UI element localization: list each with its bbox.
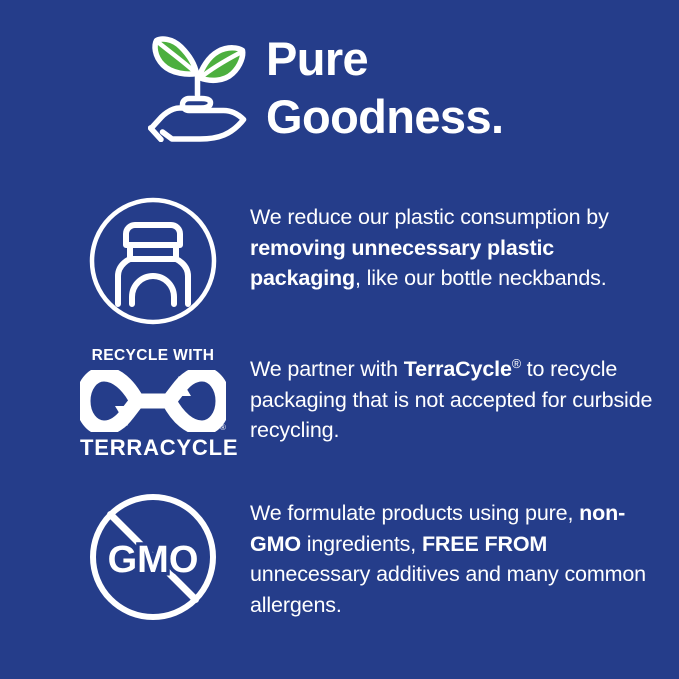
terracycle-registered-mark: ® [220,423,226,432]
hand-holding-sprout-icon [148,32,252,142]
icon-cell-gmo: GMO [56,492,250,622]
header: Pure Goodness. [148,28,503,147]
benefit-text-terracycle-part-1: TerraCycle [404,357,512,381]
benefit-row-plastic: We reduce our plastic consumption by rem… [56,196,666,326]
benefit-text-plastic-part-0: We reduce our plastic consumption by [250,205,609,229]
icon-cell-terracycle: RECYCLE WITH ® TERRACYCLE [56,348,250,459]
benefit-text-gmo: We formulate products using pure, non-GM… [250,492,666,620]
terracycle-logo-icon: RECYCLE WITH ® TERRACYCLE [80,348,226,459]
benefit-text-gmo-part-3: FREE FROM [422,532,547,556]
benefit-text-plastic-part-2: , like our bottle neckbands. [355,266,607,290]
no-gmo-icon: GMO [88,492,218,622]
benefit-row-terracycle: RECYCLE WITH ® TERRACYCLE We partner wit… [56,348,666,459]
pure-goodness-poster: Pure Goodness. We reduce our plastic con… [0,0,679,679]
benefit-text-gmo-part-0: We formulate products using pure, [250,501,579,525]
benefit-text-gmo-part-4: unnecessary additives and many common al… [250,562,646,617]
benefit-row-gmo: GMO We formulate products using pure, no… [56,492,666,622]
terracycle-bottom-label: TERRACYCLE [80,437,226,459]
benefit-text-terracycle: We partner with TerraCycle® to recycle p… [250,348,666,446]
benefit-text-terracycle-part-0: We partner with [250,357,404,381]
terracycle-top-label: RECYCLE WITH [80,348,226,364]
benefit-text-gmo-part-2: ingredients, [301,532,422,556]
benefit-text-terracycle-registered: ® [512,357,521,371]
plastic-bottle-in-circle-icon [88,196,218,326]
icon-cell-plastic [56,196,250,326]
terracycle-infinity-icon: ® [80,370,226,432]
benefit-text-plastic: We reduce our plastic consumption by rem… [250,196,666,294]
page-title: Pure Goodness. [266,30,503,147]
gmo-label: GMO [108,539,199,581]
